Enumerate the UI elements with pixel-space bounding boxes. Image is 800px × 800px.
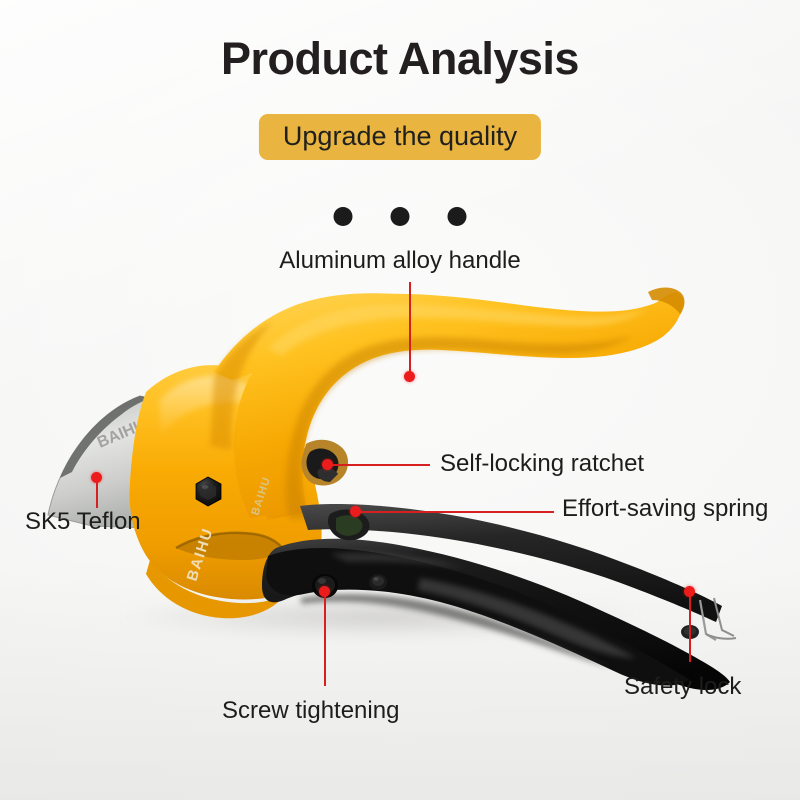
leader-dot-aluminum-alloy-handle [404, 371, 415, 382]
product-analysis-infographic: Product Analysis Upgrade the quality [0, 0, 800, 800]
leader-line-self-locking-ratchet [330, 464, 430, 466]
callout-label-self-locking-ratchet: Self-locking ratchet [440, 450, 644, 478]
leader-line-safety-lock [689, 592, 691, 662]
secondary-screw [369, 574, 387, 590]
leader-line-aluminum-alloy-handle [409, 282, 411, 376]
callout-label-sk5-teflon: SK5 Teflon [25, 508, 141, 536]
leader-line-effort-saving-spring [358, 511, 554, 513]
leader-dot-safety-lock [684, 586, 695, 597]
callout-label-effort-saving-spring: Effort-saving spring [562, 495, 768, 523]
bullet-dots-group [334, 207, 467, 226]
aluminum-alloy-handle [210, 288, 685, 521]
leader-line-screw-tightening [324, 592, 326, 686]
leader-dot-screw-tightening [319, 586, 330, 597]
callout-label-screw-tightening: Screw tightening [222, 697, 399, 725]
callout-label-aluminum-alloy-handle: Aluminum alloy handle [279, 247, 520, 275]
upgrade-quality-badge: Upgrade the quality [259, 114, 541, 160]
page-title: Product Analysis [0, 33, 800, 85]
bullet-dot-2 [391, 207, 410, 226]
leader-dot-effort-saving-spring [350, 506, 361, 517]
bullet-dot-1 [334, 207, 353, 226]
callout-label-safety-lock: Safety lock [624, 673, 741, 701]
leader-dot-sk5-teflon [91, 472, 102, 483]
bullet-dot-3 [448, 207, 467, 226]
leader-dot-self-locking-ratchet [322, 459, 333, 470]
